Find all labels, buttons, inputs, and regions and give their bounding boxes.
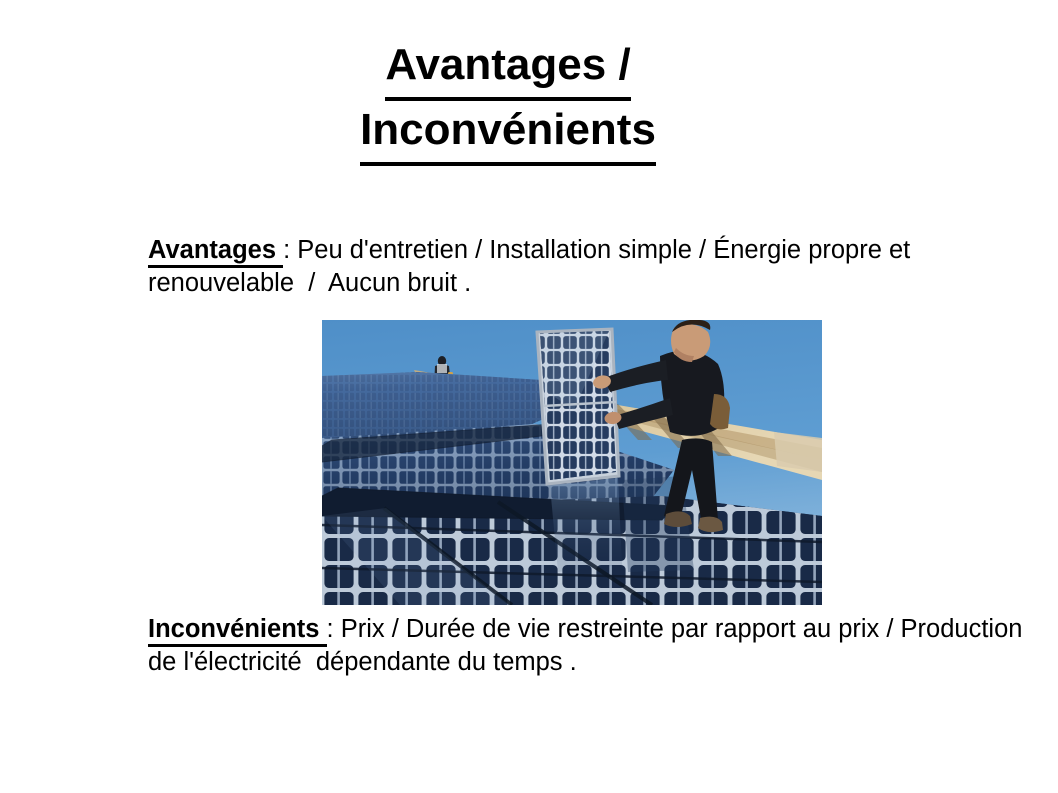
drawbacks-separator: : [327,615,341,643]
title-line-1-text: Avantages / [385,36,630,101]
advantages-separator: : [283,236,297,264]
held-solar-panel [532,325,627,490]
drawbacks-label: Inconvénients [148,615,327,647]
solar-panel-installation-photo [322,320,822,605]
far-roof-edge [774,432,822,472]
advantages-label: Avantages [148,236,283,268]
solar-photo-svg [322,320,822,605]
title-line-2: Inconvénients [148,101,868,166]
drawbacks-paragraph: Inconvénients : Prix / Durée de vie rest… [148,613,1028,679]
title-line-2-text: Inconvénients [360,101,656,166]
page-title: Avantages / Inconvénients [148,36,868,166]
slide-root: Avantages / Inconvénients Avantages : Pe… [0,0,1058,793]
title-line-1: Avantages / [148,36,868,101]
advantages-paragraph: Avantages : Peu d'entretien / Installati… [148,234,948,300]
